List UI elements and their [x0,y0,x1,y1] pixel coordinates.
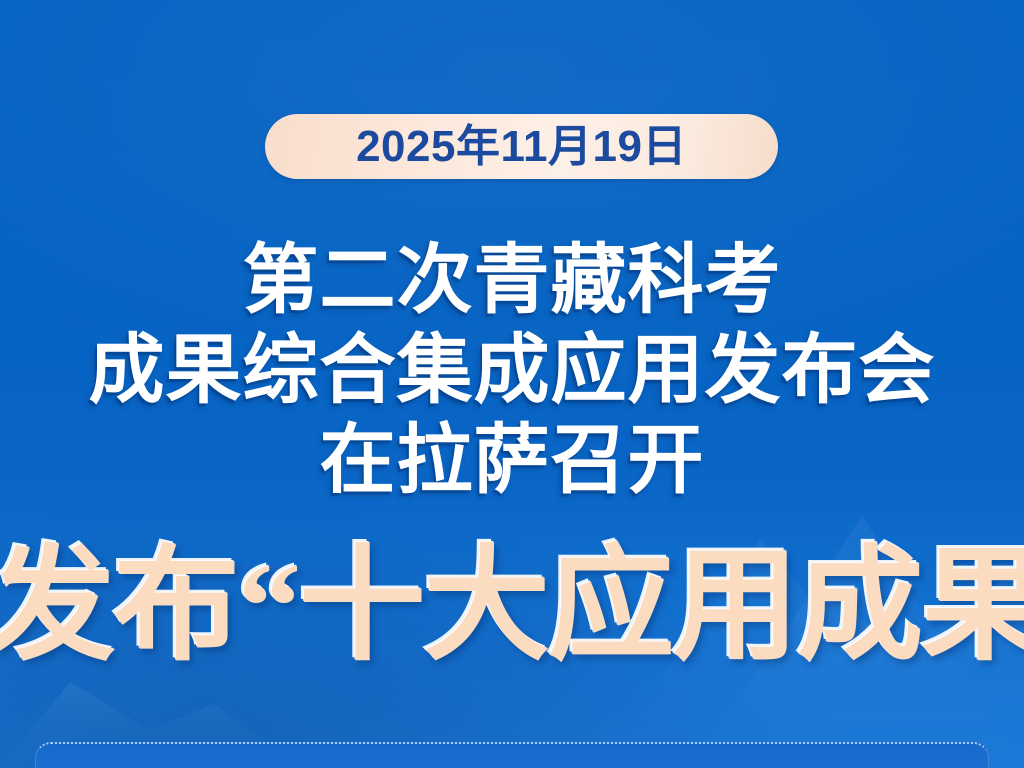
date-badge-label: 2025年11月19日 [356,125,687,169]
poster-canvas: 2025年11月19日 第二次青藏科考 成果综合集成应用发布会 在拉萨召开 发布… [0,0,1024,768]
feature-headline-label: 发布“十大应用成果” [0,545,1024,669]
headline-line-2: 成果综合集成应用发布会 [0,330,1024,412]
bottom-content-card-text [36,744,988,752]
headline-line-1: 第二次青藏科考 [0,240,1024,322]
headline-line-3: 在拉萨召开 [0,420,1024,502]
date-badge: 2025年11月19日 [265,114,778,179]
headline-block: 第二次青藏科考 成果综合集成应用发布会 在拉萨召开 [0,240,1024,502]
bottom-content-card [35,742,989,768]
feature-headline: 发布“十大应用成果” [0,545,1024,669]
